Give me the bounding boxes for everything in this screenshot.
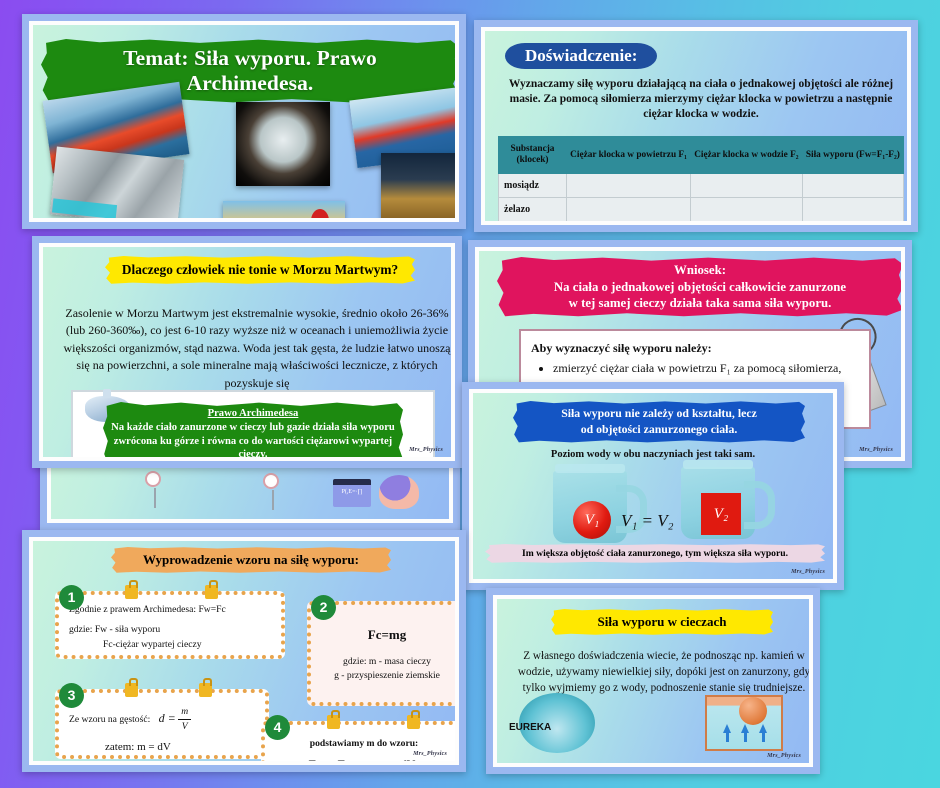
slide-title[interactable]: Temat: Siła wyporu. Prawo Archimedesa. [22,14,466,229]
buoyancy-arrow-icon [741,724,749,733]
note1-line-1: Zgodnie z prawem Archimedesa: Fw=Fc [69,603,271,617]
table-cell-weight-air[interactable] [567,174,691,198]
conclusion-banner: Wniosek: Na ciała o jednakowej objętości… [497,257,903,317]
conclusion-line-1: Wniosek: [507,262,893,279]
liquids-banner: Siła wyporu w cieczach [551,609,773,635]
derivation-note-1: Zgodnie z prawem Archimedesa: Fw=Fc gdzi… [55,591,285,659]
experiment-table: Substancja (klocek) Ciężar klocka w powi… [498,136,904,225]
slide-dead-sea[interactable]: Dlaczego człowiek nie tonie w Morzu Mart… [32,236,462,468]
student-illustration [379,475,419,509]
shape-banner-line-1: Siła wyporu nie zależy od kształtu, lecz [523,406,795,422]
note3-row: Ze wzoru na gęstość: d = m V [69,705,255,735]
fraction-numerator: m [178,705,191,720]
archimedes-law-card: Prawo Archimedesa Na każde ciało zanurzo… [71,390,435,461]
note2-line-2: gdzie: m - masa cieczy [321,655,453,669]
table-header-weight-air: Ciężar klocka w powietrzu F₁ [567,137,691,174]
step-number-2: 2 [311,595,336,620]
table-header-buoyancy: Siła wyporu (Fw=F₁-F₂) [802,137,903,174]
watermark: Mrs_Physics [767,753,801,759]
step-number-3: 3 [59,683,84,708]
note3-line-1: Ze wzoru na gęstość: [69,714,150,725]
density-lead: d = [159,711,176,725]
calculator-icon: P(,E=·∏ [333,479,371,507]
table-row: mosiądz [499,174,904,198]
conclusion-line-3: w tej samej cieczy działa taka sama siła… [507,295,893,312]
buoyancy-arrow-icon [759,724,767,733]
dead-sea-banner: Dlaczego człowiek nie tonie w Morzu Mart… [105,256,415,284]
table-row [499,222,904,225]
archimedes-statue-photo [381,153,459,222]
archimedes-screw-photo [50,146,184,222]
note2-formula: Fc=mg [321,625,453,645]
note3-line-2: zatem: m = dV [105,739,255,756]
fraction-denominator: V [178,720,191,734]
experiment-banner: Doświadczenie: [505,43,657,69]
note1-line-3: Fc-ciężar wypartej cieczy [103,638,271,652]
slide-shape-inner: Siła wyporu nie zależy od kształtu, lecz… [469,389,837,583]
table-header-row: Substancja (klocek) Ciężar klocka w powi… [499,137,904,174]
step-number-4: 4 [265,715,290,740]
slide-title-inner: Temat: Siła wyporu. Prawo Archimedesa. [29,21,459,222]
clip-icon [199,683,212,697]
table-cell-substance: mosiądz [499,174,567,198]
shape-banner-line-2: od objętości zanurzonego ciała. [523,422,795,438]
density-fraction: m V [178,705,191,735]
table-header-weight-water: Ciężar klocka w wodzie F₂ [691,137,803,174]
buoyancy-arrow-icon [723,724,731,733]
dead-sea-body: Zasolenie w Morzu Martwym jest ekstremal… [57,305,455,392]
table-cell-substance: żelazo [499,198,567,222]
clip-icon [125,585,138,599]
watermark: Mrs_Physics [409,447,443,453]
table-header-substance: Substancja (klocek) [499,137,567,174]
sphere-v1: V₁ [573,501,611,539]
hot-air-balloons-photo [223,201,345,222]
shape-footer: Im większa objętość ciała zanurzonego, t… [485,544,825,563]
derivation-banner: Wyprowadzenie wzoru na siłę wyporu: [111,547,391,573]
slide-dead-sea-inner: Dlaczego człowiek nie tonie w Morzu Mart… [39,243,455,461]
note2-line-3: g - przyspieszenie ziemskie [321,669,453,683]
watermark: Mrs_Physics [413,751,447,757]
submarine-photo [236,102,330,186]
liquids-body: Z własnego doświadczenia wiecie, że podn… [511,649,813,697]
table-cell-weight-water[interactable] [691,198,803,222]
table-cell-weight-water[interactable] [691,174,803,198]
pressure-gauge-icon [145,471,161,487]
table-cell-weight-air[interactable] [567,198,691,222]
conclusion-line-2: Na ciała o jednakowej objętości całkowic… [507,279,893,296]
watermark: Mrs_Physics [791,569,825,575]
table-cell-substance [499,222,567,225]
list-item: zmierzyć ciężar ciała w powietrzu F₁ za … [553,359,859,377]
derivation-note-3: Ze wzoru na gęstość: d = m V zatem: m = … [55,689,269,759]
derivation-note-4: podstawiamy m do wzoru: Fc = Fw = mg = d… [261,721,459,765]
table-row: żelazo [499,198,904,222]
table-cell-weight-air[interactable] [567,222,691,225]
shape-banner: Siła wyporu nie zależy od kształtu, lecz… [513,401,805,443]
table-cell-buoyancy[interactable] [802,198,903,222]
submerged-ball-icon [739,697,767,725]
note1-line-2: gdzie: Fw - siła wyporu [69,623,271,637]
table-cell-buoyancy[interactable] [802,174,903,198]
clip-icon [407,715,420,729]
note4-line-1: podstawiamy m do wzoru: [275,737,453,751]
slide-buoyancy-liquids[interactable]: Siła wyporu w cieczach Z własnego doświa… [486,588,820,774]
clip-icon [125,683,138,697]
archimedes-law-banner: Prawo Archimedesa Na każde ciało zanurzo… [103,402,403,461]
shape-subtitle: Poziom wody w obu naczyniach jest taki s… [473,449,833,460]
clip-icon [205,585,218,599]
step-number-1: 1 [59,585,84,610]
clip-icon [327,715,340,729]
slide-experiment-inner: Doświadczenie: Wyznaczamy siłę wyporu dz… [481,27,911,225]
cube-v2: V₂ [701,493,741,535]
archimedes-law-text: Na każde ciało zanurzone w cieczy lub ga… [111,421,395,461]
table-cell-weight-water[interactable] [691,222,803,225]
slide-derivation-inner: Wyprowadzenie wzoru na siłę wyporu: 1 Zg… [29,537,459,765]
slide-derivation[interactable]: Wyprowadzenie wzoru na siłę wyporu: 1 Zg… [22,530,466,772]
archimedes-law-title: Prawo Archimedesa [208,408,299,419]
procedure-title: Aby wyznaczyć siłę wyporu należy: [531,341,712,355]
slide-shape-independence[interactable]: Siła wyporu nie zależy od kształtu, lecz… [462,382,844,590]
eureka-label: EUREKA [509,722,551,733]
experiment-description: Wyznaczamy siłę wyporu działającą na cia… [499,77,903,123]
table-cell-buoyancy[interactable] [802,222,903,225]
volume-equation: V₁ = V₂ [621,511,674,531]
slide-buoyancy-liquids-inner: Siła wyporu w cieczach Z własnego doświa… [493,595,813,767]
watermark: Mrs_Physics [859,447,893,453]
slide-experiment[interactable]: Doświadczenie: Wyznaczamy siłę wyporu dz… [474,20,918,232]
pressure-gauge-icon [263,473,279,489]
